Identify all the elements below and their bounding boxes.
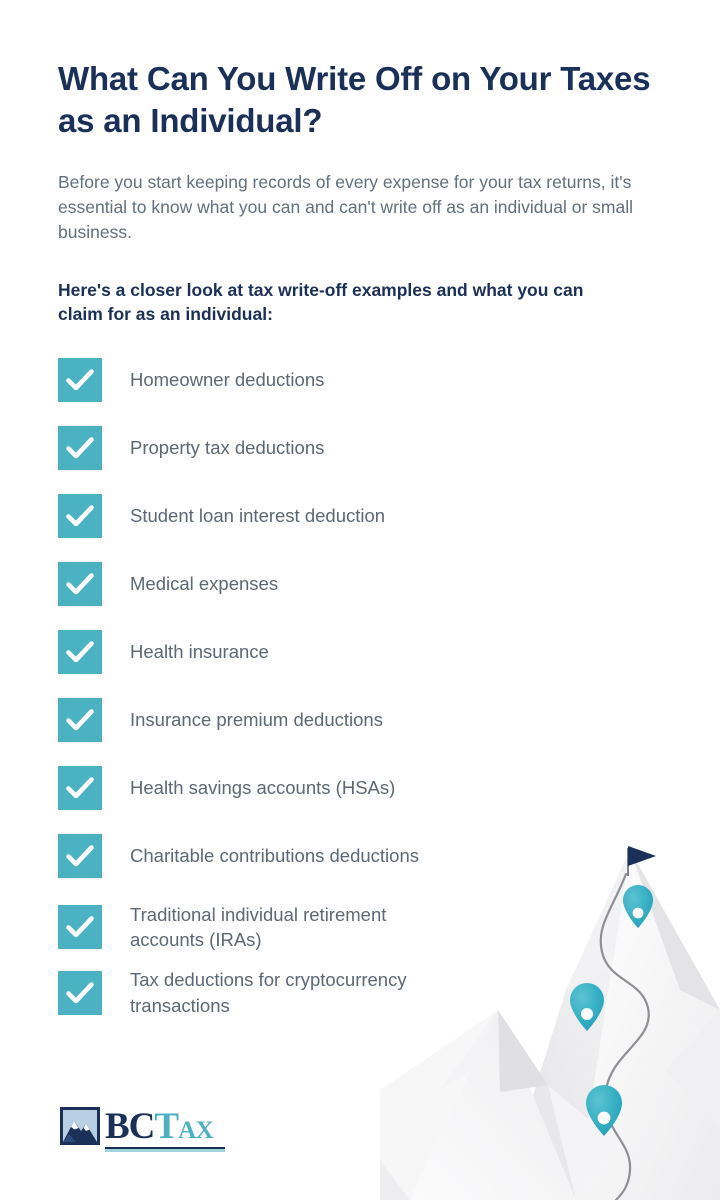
list-item-label: Medical expenses [130, 571, 278, 597]
bctax-logo[interactable]: BC T AX [60, 1107, 225, 1152]
tax-writeoff-checklist: Homeowner deductions Property tax deduct… [58, 358, 662, 1018]
checkmark-icon [58, 562, 102, 606]
checkmark-icon [58, 426, 102, 470]
infographic-page: What Can You Write Off on Your Taxes as … [0, 0, 720, 1200]
section-subheading: Here's a closer look at tax write-off ex… [58, 278, 633, 326]
checkmark-icon [58, 630, 102, 674]
list-item-label: Homeowner deductions [130, 367, 324, 393]
checkmark-icon [58, 358, 102, 402]
intro-paragraph: Before you start keeping records of ever… [58, 170, 643, 245]
logo-text-bc: BC [105, 1108, 154, 1145]
logo-text-ax: AX [178, 1118, 213, 1143]
list-item-label: Charitable contributions deductions [130, 843, 419, 869]
list-item-label: Property tax deductions [130, 435, 324, 461]
list-item: Health insurance [58, 630, 662, 674]
list-item: Charitable contributions deductions [58, 834, 662, 878]
content-area: What Can You Write Off on Your Taxes as … [0, 0, 720, 1018]
list-item-label: Tax deductions for cryptocurrency transa… [130, 967, 450, 1018]
checkmark-icon [58, 834, 102, 878]
list-item: Student loan interest deduction [58, 494, 662, 538]
list-item: Tax deductions for cryptocurrency transa… [58, 967, 662, 1018]
list-item-label: Health insurance [130, 639, 269, 665]
list-item: Traditional individual retirement accoun… [58, 902, 662, 953]
page-title: What Can You Write Off on Your Taxes as … [58, 58, 662, 141]
logo-underbar [105, 1147, 225, 1152]
checkmark-icon [58, 905, 102, 949]
list-item: Insurance premium deductions [58, 698, 662, 742]
checkmark-icon [58, 971, 102, 1015]
map-pin-icon [586, 1085, 622, 1136]
checkmark-icon [58, 766, 102, 810]
logo-wordmark: BC T AX [105, 1108, 213, 1145]
mountain-logo-icon [60, 1107, 100, 1145]
list-item: Property tax deductions [58, 426, 662, 470]
list-item: Health savings accounts (HSAs) [58, 766, 662, 810]
list-item-label: Student loan interest deduction [130, 503, 385, 529]
list-item: Homeowner deductions [58, 358, 662, 402]
list-item-label: Health savings accounts (HSAs) [130, 775, 395, 801]
list-item-label: Traditional individual retirement accoun… [130, 902, 430, 953]
logo-text-t: T [154, 1108, 178, 1145]
list-item-label: Insurance premium deductions [130, 707, 383, 733]
checkmark-icon [58, 494, 102, 538]
checkmark-icon [58, 698, 102, 742]
list-item: Medical expenses [58, 562, 662, 606]
